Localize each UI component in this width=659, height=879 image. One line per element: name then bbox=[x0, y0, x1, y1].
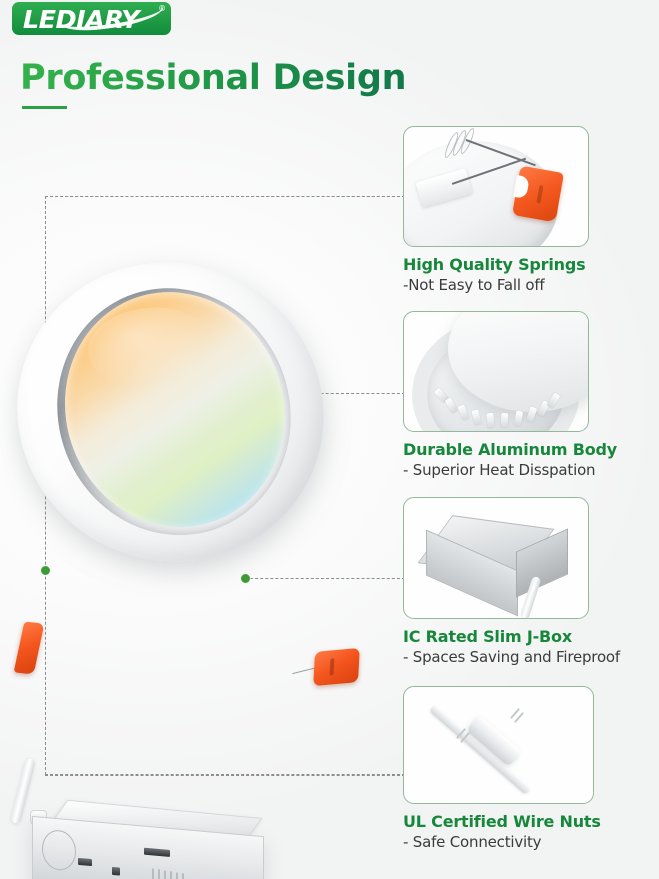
jbox-slot-1 bbox=[144, 848, 170, 857]
spring-clip-right bbox=[313, 648, 360, 686]
jbox-vent bbox=[182, 873, 184, 879]
callout-jbox: IC Rated Slim J-Box - Spaces Saving and … bbox=[403, 497, 653, 666]
registered-trademark-icon: ® bbox=[159, 4, 165, 13]
downlight-trim-ring bbox=[0, 248, 343, 577]
orange-spring-clip bbox=[512, 166, 564, 223]
callout-wire-nuts-image bbox=[403, 686, 594, 804]
callout-wire-nuts-title: UL Certified Wire Nuts bbox=[403, 812, 653, 831]
callout-wire-nuts-subtitle: - Safe Connectivity bbox=[403, 833, 653, 851]
callout-springs-title: High Quality Springs bbox=[403, 255, 653, 274]
leader-line-wire-nuts bbox=[45, 775, 405, 776]
jbox-slot-3 bbox=[112, 867, 120, 876]
jbox-knockout bbox=[42, 829, 76, 872]
callout-springs-image bbox=[403, 126, 589, 247]
callout-jbox-subtitle: - Spaces Saving and Fireproof bbox=[403, 648, 653, 666]
aluminum-heatsink-photo bbox=[404, 312, 588, 431]
callout-jbox-image bbox=[403, 497, 589, 619]
jbox-slot-2 bbox=[78, 858, 92, 866]
callout-aluminum-body: Durable Aluminum Body - Superior Heat Di… bbox=[403, 311, 653, 479]
junction-box-photo bbox=[404, 498, 588, 618]
lens-highlight bbox=[82, 302, 219, 395]
jbox-vent bbox=[158, 869, 160, 879]
callout-wire-nuts: UL Certified Wire Nuts - Safe Connectivi… bbox=[403, 686, 653, 851]
callout-aluminum-body-image bbox=[403, 311, 589, 432]
page-title: Professional Design bbox=[20, 58, 406, 98]
jbox-vent bbox=[170, 871, 172, 879]
spring-clip-left bbox=[14, 622, 45, 675]
leader-line-springs bbox=[45, 196, 405, 197]
jbox-vent bbox=[176, 872, 178, 879]
callout-springs-subtitle: -Not Easy to Fall off bbox=[403, 276, 653, 294]
callout-aluminum-body-subtitle: - Superior Heat Disspation bbox=[403, 461, 653, 479]
jbox-vent bbox=[164, 870, 166, 879]
brand-logo: LEDIARY ® bbox=[12, 2, 171, 35]
heatsink-fin bbox=[501, 413, 509, 428]
product-feature-page: LEDIARY ® Professional Design bbox=[0, 0, 659, 879]
title-underline bbox=[22, 106, 67, 109]
jbox-vent bbox=[152, 868, 154, 879]
downlight-lens bbox=[50, 281, 300, 538]
callout-springs: High Quality Springs -Not Easy to Fall o… bbox=[403, 126, 653, 294]
heatsink-fin bbox=[486, 413, 494, 429]
callout-jbox-title: IC Rated Slim J-Box bbox=[403, 627, 653, 646]
wire-nut-connector-photo bbox=[404, 687, 593, 803]
spring-clip-photo bbox=[404, 127, 588, 246]
callout-aluminum-body-title: Durable Aluminum Body bbox=[403, 440, 653, 459]
main-product-image bbox=[0, 250, 400, 680]
